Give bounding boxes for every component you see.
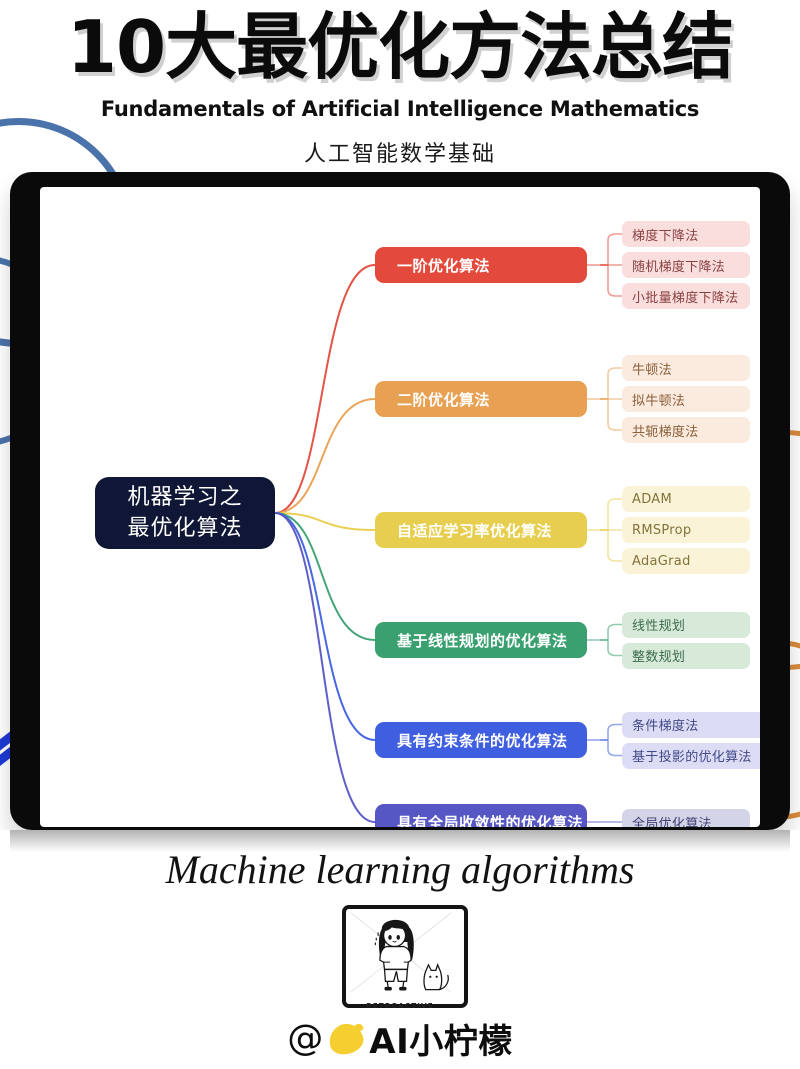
leaf-label: 梯度下降法 — [632, 225, 699, 244]
leaf-label: ADAM — [632, 492, 672, 507]
leaf-label: 拟牛顿法 — [632, 390, 685, 409]
mindmap-leaf-1-2[interactable]: 随机梯度下降法 — [622, 252, 750, 278]
mindmap-branch-3[interactable]: 自适应学习率优化算法 — [375, 512, 587, 548]
branch-label: 自适应学习率优化算法 — [397, 520, 552, 541]
mindmap-leaf-1-1[interactable]: 梯度下降法 — [622, 221, 750, 247]
mindmap-leaf-5-2[interactable]: 基于投影的优化算法 — [622, 743, 760, 769]
subtitle-english: Fundamentals of Artificial Intelligence … — [0, 97, 800, 121]
leaf-label: 牛顿法 — [632, 359, 672, 378]
mindmap-branch-5[interactable]: 具有约束条件的优化算法 — [375, 722, 587, 758]
mindmap-leaf-3-2[interactable]: RMSProp — [622, 517, 750, 543]
branch-label: 基于线性规划的优化算法 — [397, 630, 568, 651]
mindmap-leaf-3-1[interactable]: ADAM — [622, 486, 750, 512]
leaf-label: 基于投影的优化算法 — [632, 746, 752, 765]
poster-header: 10大最优化方法总结 Fundamentals of Artificial In… — [0, 0, 800, 172]
root-label-line2: 最优化算法 — [127, 513, 242, 544]
leaf-label: 小批量梯度下降法 — [632, 287, 738, 306]
leaf-label: AdaGrad — [632, 554, 691, 569]
branch-label: 具有全局收敛性的优化算法 — [397, 812, 583, 828]
mindmap-branch-1[interactable]: 一阶优化算法 — [375, 247, 587, 283]
mindmap-leaf-4-1[interactable]: 线性规划 — [622, 612, 750, 638]
subtitle-chinese: 人工智能数学基础 — [0, 136, 800, 168]
mindmap-branch-2[interactable]: 二阶优化算法 — [375, 381, 587, 417]
handle-name: AI小柠檬 — [369, 1014, 512, 1063]
mindmap-canvas: 一阶优化算法梯度下降法随机梯度下降法小批量梯度下降法二阶优化算法牛顿法拟牛顿法共… — [40, 187, 760, 827]
mindmap-leaf-1-3[interactable]: 小批量梯度下降法 — [622, 283, 750, 309]
mindmap-leaf-2-3[interactable]: 共轭梯度法 — [622, 417, 750, 443]
leaf-label: 随机梯度下降法 — [632, 256, 725, 275]
branch-label: 二阶优化算法 — [397, 389, 490, 410]
girl-and-cat-illustration — [346, 909, 456, 996]
mindmap-leaf-6-1[interactable]: 全局优化算法 — [622, 809, 750, 827]
mindmap-leaf-4-2[interactable]: 整数规划 — [622, 643, 750, 669]
branch-label: 具有约束条件的优化算法 — [397, 730, 568, 751]
leaf-label: RMSProp — [632, 523, 691, 538]
mindmap-branch-4[interactable]: 基于线性规划的优化算法 — [375, 622, 587, 658]
mindmap-card-frame: 一阶优化算法梯度下降法随机梯度下降法小批量梯度下降法二阶优化算法牛顿法拟牛顿法共… — [10, 172, 790, 830]
mindmap-leaf-5-1[interactable]: 条件梯度法 — [622, 712, 760, 738]
brand-logo — [342, 905, 468, 1008]
branch-label: 一阶优化算法 — [397, 255, 490, 276]
leaf-label: 条件梯度法 — [632, 715, 699, 734]
mindmap-root-node[interactable]: 机器学习之最优化算法 — [95, 477, 275, 549]
leaf-label: 全局优化算法 — [632, 813, 712, 828]
leaf-label: 线性规划 — [632, 615, 685, 634]
at-symbol-icon: @ — [287, 1019, 323, 1059]
root-label-line1: 机器学习之 — [127, 482, 242, 513]
lemon-icon — [326, 1019, 367, 1057]
mindmap-card: 一阶优化算法梯度下降法随机梯度下降法小批量梯度下降法二阶优化算法牛顿法拟牛顿法共… — [40, 187, 760, 827]
page-title: 10大最优化方法总结 — [0, 4, 800, 90]
mindmap-leaf-3-3[interactable]: AdaGrad — [622, 548, 750, 574]
mindmap-leaf-2-2[interactable]: 拟牛顿法 — [622, 386, 750, 412]
leaf-label: 共轭梯度法 — [632, 421, 699, 440]
logo-caption: RETROACTIVE — [0, 1002, 800, 1010]
account-handle: @ AI小柠檬 — [0, 1014, 800, 1063]
mindmap-branch-6[interactable]: 具有全局收敛性的优化算法 — [375, 804, 587, 827]
leaf-label: 整数规划 — [632, 646, 685, 665]
footer-caption: Machine learning algorithms — [0, 846, 800, 893]
poster-root: 10大最优化方法总结 Fundamentals of Artificial In… — [0, 0, 800, 1069]
mindmap-leaf-2-1[interactable]: 牛顿法 — [622, 355, 750, 381]
